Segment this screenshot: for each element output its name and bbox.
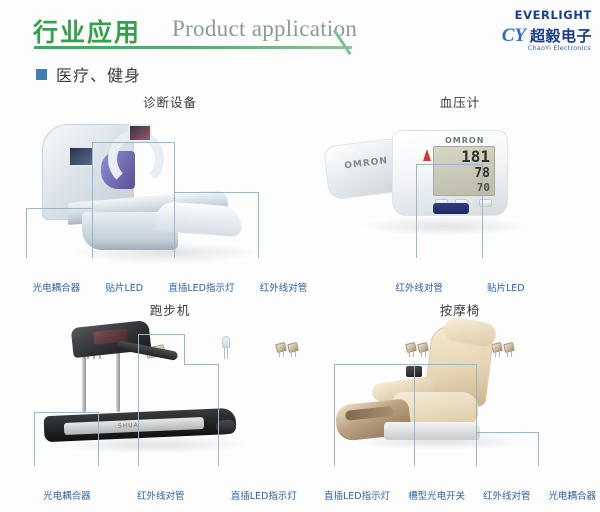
connector-line <box>258 192 259 258</box>
connector-line <box>218 364 219 466</box>
connector-line <box>92 142 93 208</box>
device-illustration-massage-chair <box>320 320 600 462</box>
omron-wordmark: OMRON <box>445 136 484 145</box>
scanner-display-top <box>128 124 152 142</box>
panel-title: 跑步机 <box>20 300 320 319</box>
chaoyi-wordmark-en: ChaoYi Electronics <box>528 44 591 52</box>
connector-line <box>26 208 92 209</box>
connector-line <box>334 364 335 466</box>
bp-indicator-arrow-icon <box>423 149 431 161</box>
connector-line <box>416 164 417 258</box>
connector-line <box>174 142 175 258</box>
lcd-systolic: 181 <box>438 149 490 165</box>
connector-line <box>98 412 99 466</box>
connector-line <box>138 334 139 466</box>
connector-line <box>184 334 185 364</box>
component-label: 光电耦合器 <box>33 280 81 294</box>
connector-line <box>92 142 174 143</box>
connector-line <box>334 364 414 365</box>
connector-line <box>482 164 483 258</box>
chaoyi-wordmark-zh: 超毅电子 <box>530 29 592 44</box>
device-illustration-treadmill: SHUA <box>20 320 320 462</box>
page-title-en: Product application <box>172 16 357 42</box>
title-underline <box>34 46 352 49</box>
device-illustration-bp-monitor: OMRON OMRON 181 78 70 <box>320 112 600 254</box>
component-label: 直插LED指示灯 <box>231 488 297 502</box>
connector-line <box>414 364 415 466</box>
connector-line <box>174 192 258 193</box>
scanner-display-left <box>68 146 94 167</box>
component-label: 光电耦合器 <box>548 488 596 502</box>
connector-line <box>414 364 476 365</box>
connector-line <box>92 208 93 258</box>
device-shadow <box>360 216 530 236</box>
scanner-couch <box>155 201 243 237</box>
bp-start-panel <box>433 203 469 214</box>
connector-line <box>138 334 184 335</box>
connector-line <box>34 412 98 413</box>
panel-diagnostic-equipment: 诊断设备 <box>20 92 320 302</box>
brand-logo: EVERLIGHT CY 超毅电子 ChaoYi Electronics <box>472 8 594 52</box>
component-label-row: 红外线对管 贴片LED <box>320 280 600 294</box>
component-label: 红外线对管 <box>260 280 308 294</box>
device-illustration-scanner <box>20 112 320 254</box>
panel-title: 血压计 <box>320 92 600 111</box>
bp-lcd-display: 181 78 70 <box>433 146 495 196</box>
everlight-wordmark: EVERLIGHT <box>515 8 592 22</box>
section-heading: 医疗、健身 <box>36 62 141 86</box>
component-label-row: 光电耦合器 贴片LED 直插LED指示灯 红外线对管 <box>20 280 320 294</box>
component-label: 直插LED指示灯 <box>324 488 390 502</box>
component-label: 贴片LED <box>487 280 525 294</box>
component-label: 光电耦合器 <box>43 488 91 502</box>
panel-treadmill: 跑步机 SHUA <box>20 300 320 510</box>
chair-base <box>384 422 480 440</box>
slide-root: 行业应用 Product application EVERLIGHT CY 超毅… <box>0 0 600 512</box>
page-title-zh: 行业应用 <box>33 13 141 49</box>
title-accent-slash <box>349 26 375 48</box>
connector-line <box>184 364 218 365</box>
panel-blood-pressure-monitor: 血压计 OMRON OMRON 181 78 70 <box>320 92 600 302</box>
treadmill-post <box>116 350 120 412</box>
chaoyi-logo-row: CY 超毅电子 <box>502 25 592 44</box>
section-label: 医疗、健身 <box>56 62 141 86</box>
connector-line <box>476 432 538 433</box>
component-label: 红外线对管 <box>395 280 443 294</box>
connector-line <box>416 164 482 165</box>
bp-button <box>479 199 492 207</box>
component-label-row: 光电耦合器 红外线对管 直插LED指示灯 <box>20 488 320 502</box>
component-label: 槽型光电开关 <box>408 488 465 502</box>
cy-monogram-icon: CY <box>502 26 526 45</box>
panel-title: 诊断设备 <box>20 92 320 111</box>
component-label-row: 直插LED指示灯 槽型光电开关 红外线对管 光电耦合器 <box>320 488 600 502</box>
connector-line <box>34 412 35 466</box>
connector-line <box>538 432 539 466</box>
bp-body: OMRON 181 78 70 <box>392 130 508 216</box>
component-label: 红外线对管 <box>137 488 185 502</box>
component-label: 贴片LED <box>105 280 143 294</box>
treadmill-post <box>82 350 86 412</box>
component-label: 直插LED指示灯 <box>168 280 234 294</box>
component-label: 红外线对管 <box>483 488 531 502</box>
slide-header: 行业应用 Product application EVERLIGHT CY 超毅… <box>0 0 600 55</box>
connector-line <box>476 364 477 466</box>
panel-massage-chair: 按摩椅 <box>320 300 600 510</box>
panel-title: 按摩椅 <box>320 300 600 319</box>
section-bullet-icon <box>36 69 47 80</box>
omron-wordmark: OMRON <box>344 156 389 171</box>
connector-line <box>26 208 27 258</box>
